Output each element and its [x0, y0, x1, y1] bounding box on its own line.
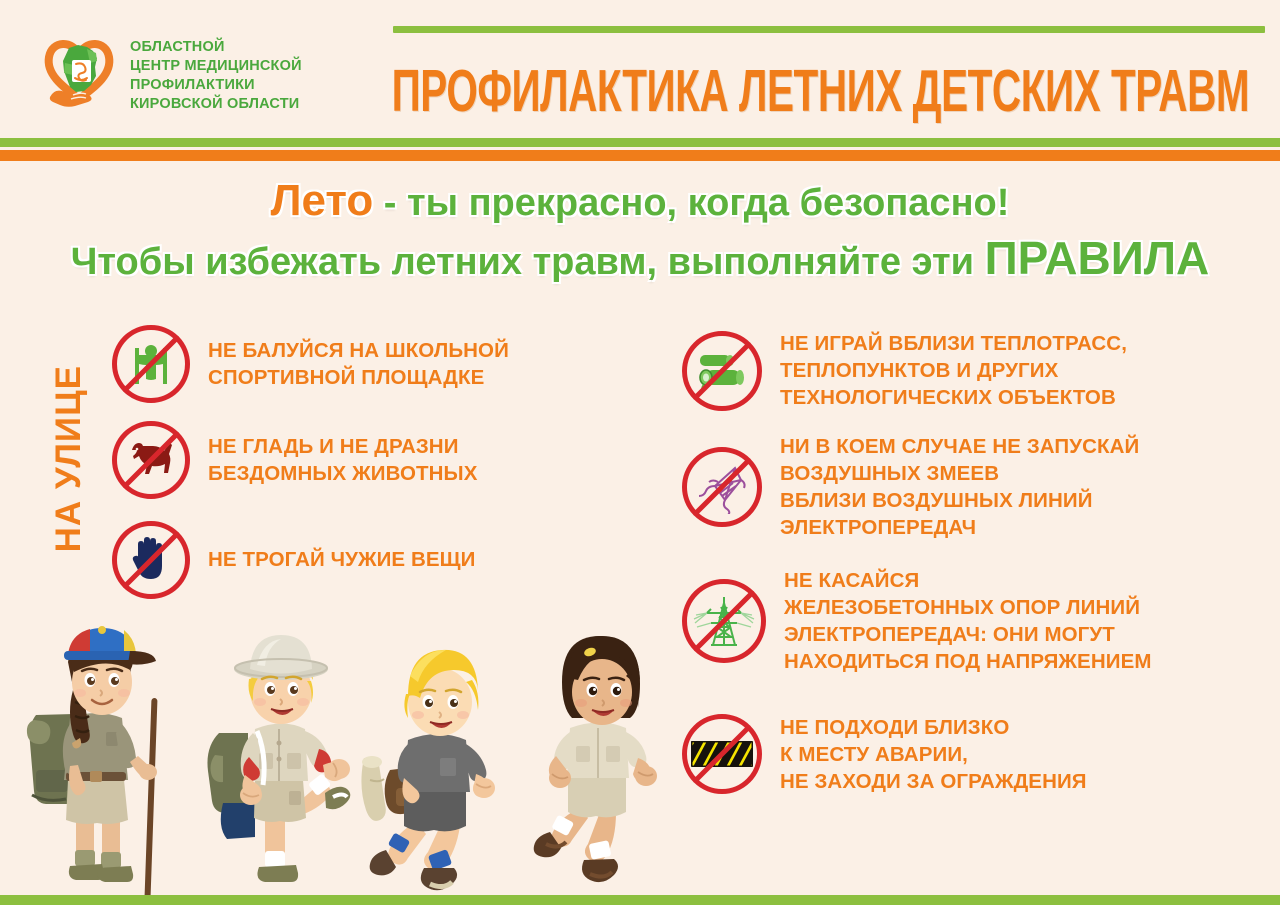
rule-line: ВБЛИЗИ ВОЗДУШНЫХ ЛИНИЙ: [780, 487, 1139, 514]
rule-line: СПОРТИВНОЙ ПЛОЩАДКЕ: [208, 364, 509, 391]
rule-line: ЭЛЕКТРОПЕРЕДАЧ: ОНИ МОГУТ: [784, 621, 1152, 648]
rule-line: ЭЛЕКТРОПЕРЕДАЧ: [780, 514, 1139, 541]
rule-text: НЕ ГЛАДЬ И НЕ ДРАЗНИ БЕЗДОМНЫХ ЖИВОТНЫХ: [208, 433, 478, 487]
logo-line-2: ЦЕНТР МЕДИЦИНСКОЙ: [130, 58, 302, 76]
heart-hand-map-logo-icon: [40, 33, 118, 121]
section-label-outdoors: НА УЛИЦЕ: [38, 325, 100, 593]
rule-line: ЖЕЛЕЗОБЕТОННЫХ ОПОР ЛИНИЙ: [784, 594, 1152, 621]
section-label-text: НА УЛИЦЕ: [49, 365, 89, 552]
organization-logo-block: ОБЛАСТНОЙ ЦЕНТР МЕДИЦИНСКОЙ ПРОФИЛАКТИКИ…: [40, 24, 340, 129]
no-heat-pipeline-icon: [682, 331, 762, 411]
subtitle-line-1-rest: - ты прекрасно, когда безопасно!: [373, 182, 1009, 224]
rule-item: НЕ ТРОГАЙ ЧУЖИЕ ВЕЩИ: [112, 521, 632, 599]
logo-line-3: ПРОФИЛАКТИКИ: [130, 77, 302, 95]
rules-column-right: НЕ ИГРАЙ ВБЛИЗИ ТЕПЛОТРАСС, ТЕПЛОПУНКТОВ…: [682, 330, 1257, 795]
rule-line: ТЕХНОЛОГИЧЕСКИХ ОБЪЕКТОВ: [780, 384, 1127, 411]
rule-line: ВОЗДУШНЫХ ЗМЕЕВ: [780, 460, 1139, 487]
rule-line: НАХОДИТЬСЯ ПОД НАПРЯЖЕНИЕМ: [784, 648, 1152, 675]
rule-line: НЕ ЗАХОДИ ЗА ОГРАЖДЕНИЯ: [780, 768, 1087, 795]
rule-item: НЕ ИГРАЙ ВБЛИЗИ ТЕПЛОТРАСС, ТЕПЛОПУНКТОВ…: [682, 330, 1257, 411]
header-green-rule: [393, 26, 1265, 33]
children-illustration: [8, 612, 698, 905]
rule-line: НЕ ИГРАЙ ВБЛИЗИ ТЕПЛОТРАСС,: [780, 330, 1127, 357]
rule-text: НЕ ИГРАЙ ВБЛИЗИ ТЕПЛОТРАСС, ТЕПЛОПУНКТОВ…: [780, 330, 1127, 411]
subtitle-word-pravila: ПРАВИЛА: [985, 232, 1210, 284]
boy-with-bucket-hat: [193, 625, 368, 905]
rule-line: К МЕСТУ АВАРИИ,: [780, 741, 1087, 768]
poster-root: ОБЛАСТНОЙ ЦЕНТР МЕДИЦИНСКОЙ ПРОФИЛАКТИКИ…: [0, 0, 1280, 905]
rule-item: НЕ ПОДХОДИ БЛИЗКО К МЕСТУ АВАРИИ, НЕ ЗАХ…: [682, 714, 1257, 795]
poster-header: ОБЛАСТНОЙ ЦЕНТР МЕДИЦИНСКОЙ ПРОФИЛАКТИКИ…: [0, 0, 1280, 146]
rule-text: НЕ ПОДХОДИ БЛИЗКО К МЕСТУ АВАРИИ, НЕ ЗАХ…: [780, 714, 1087, 795]
rule-text: НЕ БАЛУЙСЯ НА ШКОЛЬНОЙ СПОРТИВНОЙ ПЛОЩАД…: [208, 337, 509, 391]
subtitle-word-leto: Лето: [271, 176, 374, 225]
header-band-orange: [0, 150, 1280, 161]
rule-item: НЕ ГЛАДЬ И НЕ ДРАЗНИ БЕЗДОМНЫХ ЖИВОТНЫХ: [112, 421, 632, 499]
rule-line: НЕ ГЛАДЬ И НЕ ДРАЗНИ: [208, 433, 478, 460]
rule-item: НЕ КАСАЙСЯ ЖЕЛЕЗОБЕТОННЫХ ОПОР ЛИНИЙ ЭЛЕ…: [682, 567, 1257, 675]
no-kite-icon: [682, 447, 762, 527]
rules-column-left: НЕ БАЛУЙСЯ НА ШКОЛЬНОЙ СПОРТИВНОЙ ПЛОЩАД…: [112, 325, 632, 599]
rule-line: БЕЗДОМНЫХ ЖИВОТНЫХ: [208, 460, 478, 487]
subtitle-line-2: Чтобы избежать летних травм, выполняйте …: [0, 234, 1280, 283]
logo-line-4: КИРОВСКОЙ ОБЛАСТИ: [130, 96, 302, 114]
rule-item: НЕ БАЛУЙСЯ НА ШКОЛЬНОЙ СПОРТИВНОЙ ПЛОЩАД…: [112, 325, 632, 403]
no-playground-icon: [112, 325, 190, 403]
rule-line: НЕ ПОДХОДИ БЛИЗКО: [780, 714, 1087, 741]
page-title-text: ПРОФИЛАКТИКА ЛЕТНИХ ДЕТСКИХ ТРАВМ: [391, 57, 1249, 126]
rule-line: ТЕПЛОПУНКТОВ И ДРУГИХ: [780, 357, 1127, 384]
running-blond-boy: [360, 640, 540, 905]
organization-name: ОБЛАСТНОЙ ЦЕНТР МЕДИЦИНСКОЙ ПРОФИЛАКТИКИ…: [130, 39, 302, 114]
subtitle-line-1: Лето - ты прекрасно, когда безопасно!: [0, 178, 1280, 224]
page-title: ПРОФИЛАКТИКА ЛЕТНИХ ДЕТСКИХ ТРАВМ: [375, 60, 1265, 122]
rule-text: НЕ ТРОГАЙ ЧУЖИЕ ВЕЩИ: [208, 546, 476, 573]
header-band-green: [0, 138, 1280, 147]
girl-with-hiking-stick: [18, 620, 183, 905]
rule-item: НИ В КОЕМ СЛУЧАЕ НЕ ЗАПУСКАЙ ВОЗДУШНЫХ З…: [682, 433, 1257, 541]
rule-line: НЕ ТРОГАЙ ЧУЖИЕ ВЕЩИ: [208, 546, 476, 573]
rule-line: НИ В КОЕМ СЛУЧАЕ НЕ ЗАПУСКАЙ: [780, 433, 1139, 460]
subtitle-block: Лето - ты прекрасно, когда безопасно! Чт…: [0, 178, 1280, 283]
subtitle-line-2-text: Чтобы избежать летних травм, выполняйте …: [71, 241, 985, 283]
footer-band-green: [0, 895, 1280, 905]
rule-text: НИ В КОЕМ СЛУЧАЕ НЕ ЗАПУСКАЙ ВОЗДУШНЫХ З…: [780, 433, 1139, 541]
rule-line: НЕ БАЛУЙСЯ НА ШКОЛЬНОЙ: [208, 337, 509, 364]
no-stray-dog-icon: [112, 421, 190, 499]
rule-line: НЕ КАСАЙСЯ: [784, 567, 1152, 594]
logo-line-1: ОБЛАСТНОЙ: [130, 39, 302, 57]
running-girl: [518, 630, 693, 905]
rule-text: НЕ КАСАЙСЯ ЖЕЛЕЗОБЕТОННЫХ ОПОР ЛИНИЙ ЭЛЕ…: [784, 567, 1152, 675]
no-touching-hand-icon: [112, 521, 190, 599]
